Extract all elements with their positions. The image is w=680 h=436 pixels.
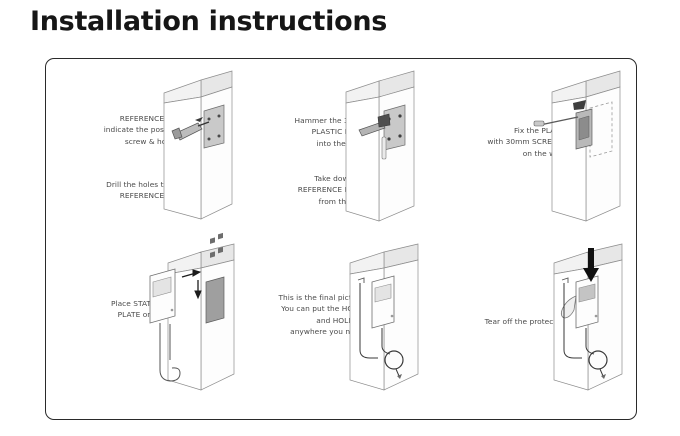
step-1-callout-wall: Wall [64, 151, 190, 162]
cable-and-holder-6 [564, 283, 607, 379]
step-1-callout-reference-paper: REFERENCE PAPER indicate the position of… [64, 113, 190, 147]
page-title: Installation instructions [30, 6, 387, 37]
step-1-callout-drill: Drill the holes through REFERENCE PAPER [54, 179, 190, 202]
step-5-callout-final-picture: This is the final picture You can put th… [238, 292, 364, 338]
wall-plate-4 [206, 233, 224, 323]
step-4-callout-place-station: Place STATION onto PLATE on the wall [62, 298, 184, 321]
step-4-illustration [46, 240, 242, 421]
step-6-illustration [440, 240, 638, 421]
step-5-number: 5 [370, 256, 385, 277]
wall-hook-6 [562, 278, 568, 283]
step-4: 4 Place STATION onto PLATE on the wall [46, 240, 242, 421]
mounting-plate-1 [204, 105, 224, 148]
station-cable-4 [160, 323, 180, 381]
peeling-protector-6 [561, 296, 576, 318]
down-arrow-icon [583, 248, 599, 282]
step-2-callout-take-down-paper: Take down the REFERENCE PAPER from the w… [240, 173, 368, 207]
step-5: 5 This is the final picture You can put … [242, 240, 440, 421]
step-2-illustration [242, 59, 440, 240]
charging-station-6 [576, 276, 598, 328]
installation-instructions-page: Installation instructions 1 REFERENCE PA… [0, 0, 680, 436]
step-6-number: 6 [570, 256, 585, 277]
step-3-number: 3 [570, 89, 585, 110]
instruction-frame: 1 REFERENCE PAPER indicate the position … [45, 58, 637, 420]
step-3: 3 Fix the PLATE with 30mm SCREWS on the … [440, 59, 638, 240]
step-4-number: 4 [186, 256, 201, 277]
step-2-number: 2 [370, 89, 385, 110]
step-2-callout-hammer-bolts: Hammer the 30mm PLASTIC BOLTS into the h… [246, 115, 368, 149]
wall-hook-5 [358, 278, 364, 283]
station-outline-dashed-3 [590, 102, 612, 157]
cable-and-holder-5 [360, 283, 403, 379]
step-6-callout-tear-protector: Tear off the protector [444, 316, 564, 327]
step-1: 1 REFERENCE PAPER indicate the position … [46, 59, 242, 240]
mounting-plate-3 [576, 109, 592, 149]
step-6: 6 Tear off the protector [440, 240, 638, 421]
step-3-callout-fix-plate: Fix the PLATE with 30mm SCREWS on the wa… [440, 125, 564, 159]
charging-station-5 [372, 276, 394, 328]
mounting-plate-2 [384, 105, 405, 150]
step-1-illustration [46, 59, 242, 240]
wall-panel-6 [554, 244, 622, 390]
step-2: 2 Hammer the 30mm PLASTIC BOLTS into the… [242, 59, 440, 240]
step-1-number: 1 [190, 89, 205, 110]
